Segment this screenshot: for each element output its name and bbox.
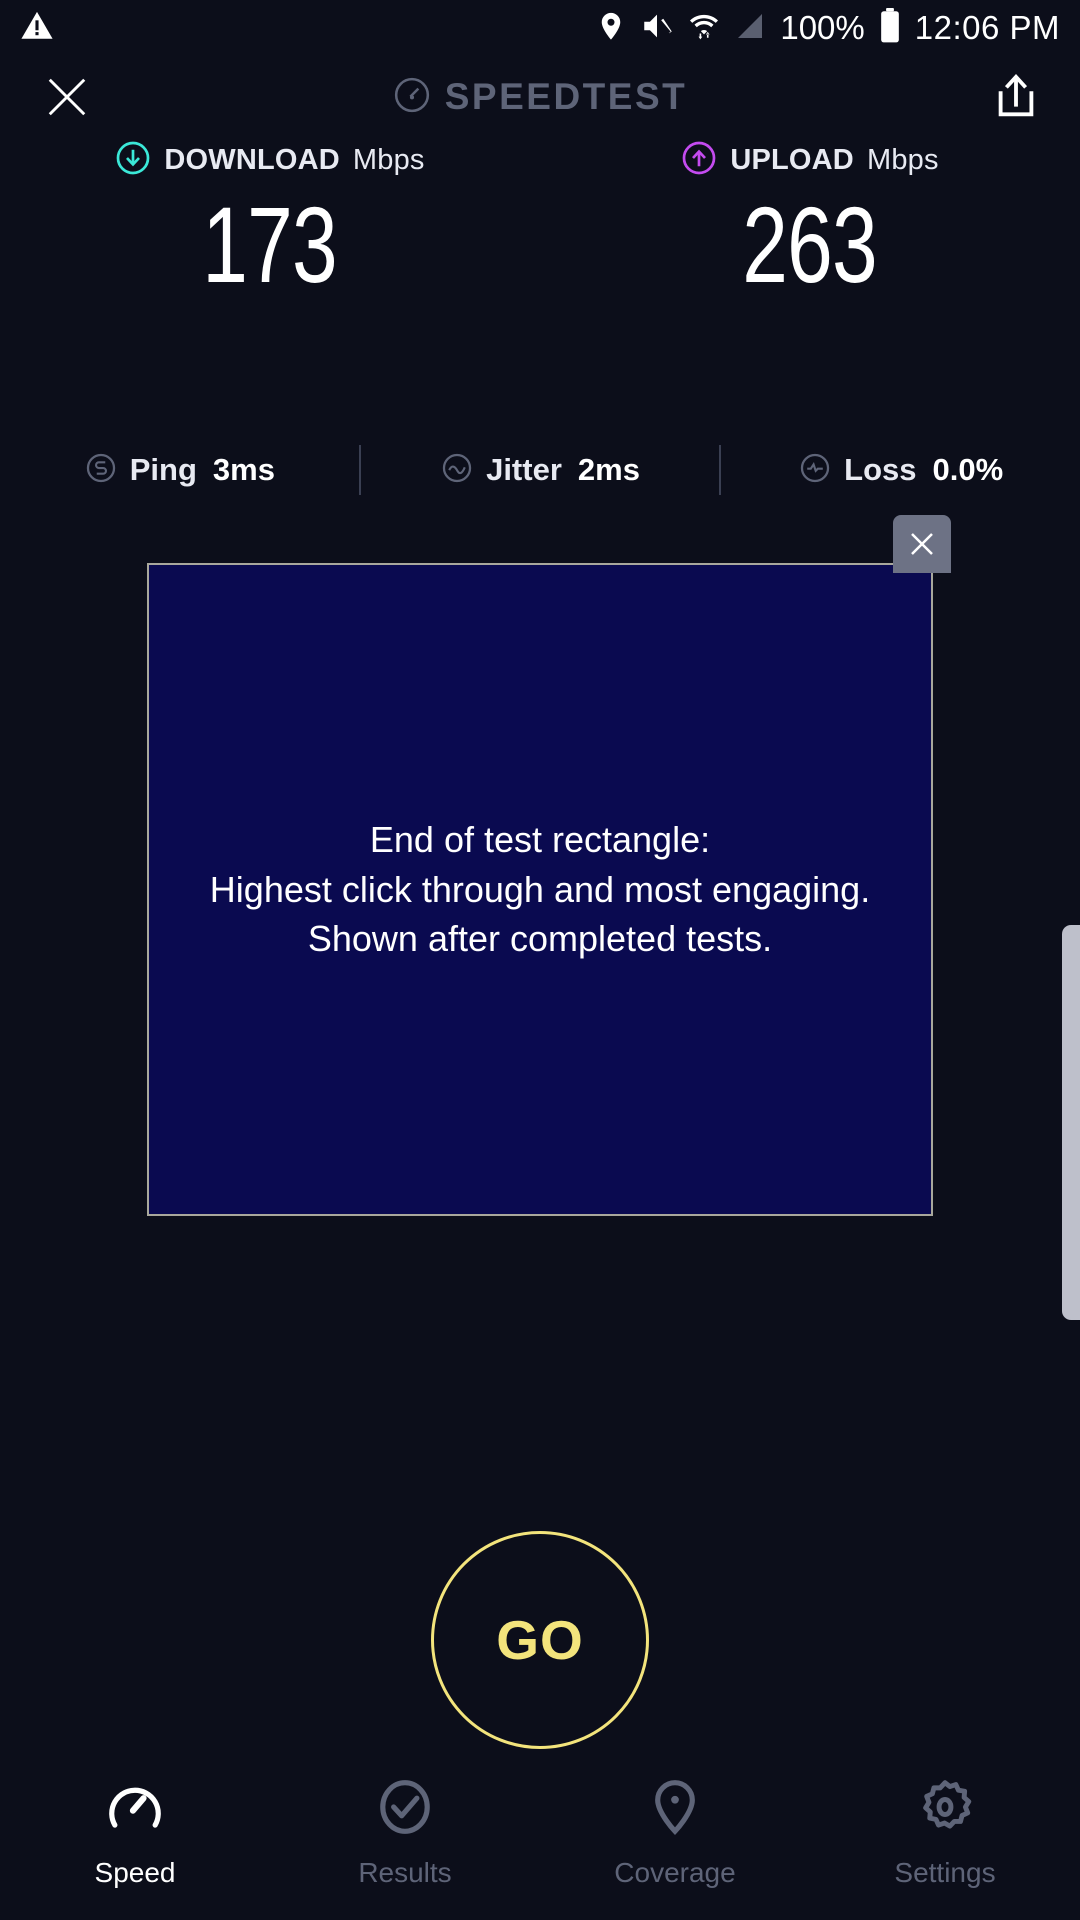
upload-value: 263 [743, 187, 878, 304]
nav-item-results[interactable]: Results [270, 1776, 540, 1889]
upload-label: UPLOAD [730, 144, 854, 177]
download-arrow-circle-icon [115, 140, 151, 181]
results-row: DOWNLOAD Mbps 173 UPLOAD Mbps [0, 140, 1080, 304]
brand: SPEEDTEST [0, 56, 1080, 138]
download-label-row: DOWNLOAD Mbps [115, 140, 424, 181]
nav-item-coverage[interactable]: Coverage [540, 1776, 810, 1889]
ad-line-1: End of test rectangle: [210, 815, 870, 865]
metric-jitter: Jitter 2ms [361, 451, 720, 490]
check-circle-icon [374, 1776, 436, 1843]
app-root: 100% 12:06 PM SP [0, 0, 1080, 1920]
metric-loss-label: Loss [844, 452, 916, 488]
share-button[interactable] [988, 68, 1044, 126]
map-pin-icon [644, 1776, 706, 1843]
location-pin-icon [596, 9, 626, 48]
upload-arrow-circle-icon [681, 140, 717, 181]
download-unit: Mbps [353, 144, 425, 177]
download-result: DOWNLOAD Mbps 173 [0, 140, 540, 304]
nav-label-results: Results [358, 1857, 451, 1889]
metric-ping: Ping 3ms [0, 451, 359, 490]
ad-line-2: Highest click through and most engaging. [210, 865, 870, 915]
app-bar: SPEEDTEST [0, 56, 1080, 138]
metric-ping-label: Ping [130, 452, 197, 488]
battery-full-icon [879, 8, 901, 49]
upload-label-row: UPLOAD Mbps [681, 140, 938, 181]
go-button-label: GO [496, 1608, 584, 1672]
metric-loss: Loss 0.0% [721, 451, 1080, 490]
brand-title: SPEEDTEST [445, 76, 688, 118]
loss-icon [798, 451, 832, 490]
mute-icon [640, 9, 674, 48]
download-value: 173 [203, 187, 338, 304]
nav-item-settings[interactable]: Settings [810, 1776, 1080, 1889]
status-bar-left [20, 9, 54, 48]
cell-signal-icon [734, 9, 766, 48]
metric-jitter-value: 2ms [578, 452, 640, 488]
nav-label-coverage: Coverage [614, 1857, 735, 1889]
metric-jitter-label: Jitter [486, 452, 562, 488]
ping-icon [84, 451, 118, 490]
speedometer-icon [393, 76, 431, 119]
ad-creative[interactable]: End of test rectangle: Highest click thr… [147, 563, 933, 1216]
warning-triangle-icon [20, 9, 54, 48]
download-label: DOWNLOAD [164, 144, 340, 177]
metrics-row: Ping 3ms Jitter 2ms [0, 440, 1080, 500]
speedometer-icon [104, 1776, 166, 1843]
upload-unit: Mbps [867, 144, 939, 177]
ad-close-button[interactable] [893, 515, 951, 573]
bottom-nav: Speed Results Coverage [0, 1760, 1080, 1920]
metric-loss-value: 0.0% [933, 452, 1004, 488]
upload-result: UPLOAD Mbps 263 [540, 140, 1080, 304]
jitter-icon [440, 451, 474, 490]
ad-container: End of test rectangle: Highest click thr… [147, 563, 933, 1216]
results-panel: DOWNLOAD Mbps 173 UPLOAD Mbps [0, 140, 1080, 304]
status-bar: 100% 12:06 PM [0, 0, 1080, 56]
battery-percent: 100% [780, 9, 864, 47]
nav-label-settings: Settings [894, 1857, 995, 1889]
scrollbar-thumb[interactable] [1062, 925, 1080, 1320]
metric-ping-value: 3ms [213, 452, 275, 488]
status-bar-right: 100% 12:06 PM [596, 8, 1060, 49]
go-button[interactable]: GO [431, 1531, 649, 1749]
nav-item-speed[interactable]: Speed [0, 1776, 270, 1889]
wifi-icon [688, 9, 720, 48]
status-bar-clock: 12:06 PM [915, 9, 1060, 47]
gear-icon [914, 1776, 976, 1843]
ad-text: End of test rectangle: Highest click thr… [210, 815, 870, 964]
nav-label-speed: Speed [95, 1857, 176, 1889]
ad-line-3: Shown after completed tests. [210, 914, 870, 964]
